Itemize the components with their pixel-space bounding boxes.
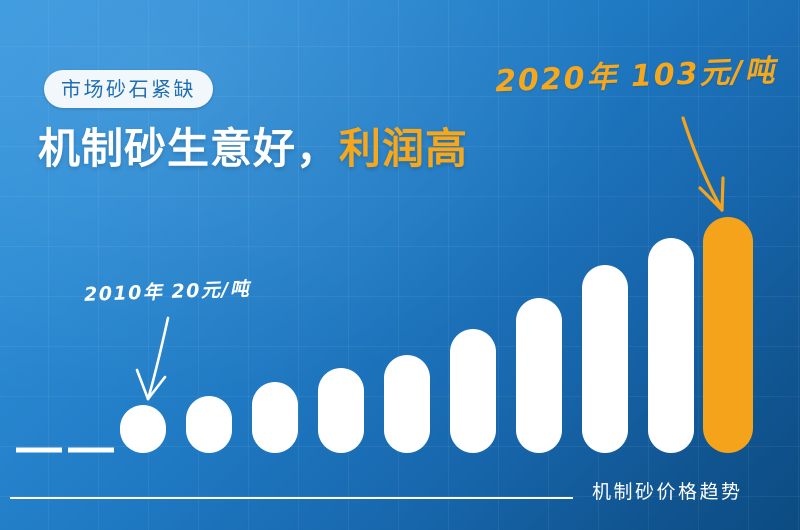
- annotation-2020-label: 2020年 103元/吨: [495, 57, 777, 98]
- chart-bar-2013: [186, 396, 232, 453]
- chart-bar-2019: [582, 265, 628, 453]
- chart-bar-2017: [450, 329, 496, 453]
- chart-bar-2014: [252, 382, 298, 453]
- chart-bar-2016: [384, 355, 430, 453]
- status-badge-label: 市场砂石紧缺: [61, 79, 196, 99]
- chart-bar-2012: [120, 405, 166, 453]
- page-title: 机制砂生意好，利润高: [38, 126, 468, 171]
- chart-bar-2020-highlight: [703, 217, 753, 453]
- chart-bar-2015: [318, 368, 364, 453]
- chart-caption: 机制砂价格趋势: [592, 483, 743, 502]
- chart-bar-2018: [516, 298, 562, 453]
- status-badge: 市场砂石紧缺: [44, 70, 213, 108]
- annotation-2020-arrow-icon: [683, 118, 723, 210]
- page-title-accent: 利润高: [339, 124, 468, 173]
- poster-canvas: 市场砂石紧缺 机制砂生意好，利润高 2020年 103元/吨 2010年 20元…: [0, 0, 800, 530]
- annotation-2010-arrow-icon: [137, 318, 168, 399]
- page-title-main: 机制砂生意好，: [38, 124, 339, 173]
- chart-bar-2019b: [648, 238, 694, 453]
- annotation-2010-label: 2010年 20元/吨: [84, 280, 251, 305]
